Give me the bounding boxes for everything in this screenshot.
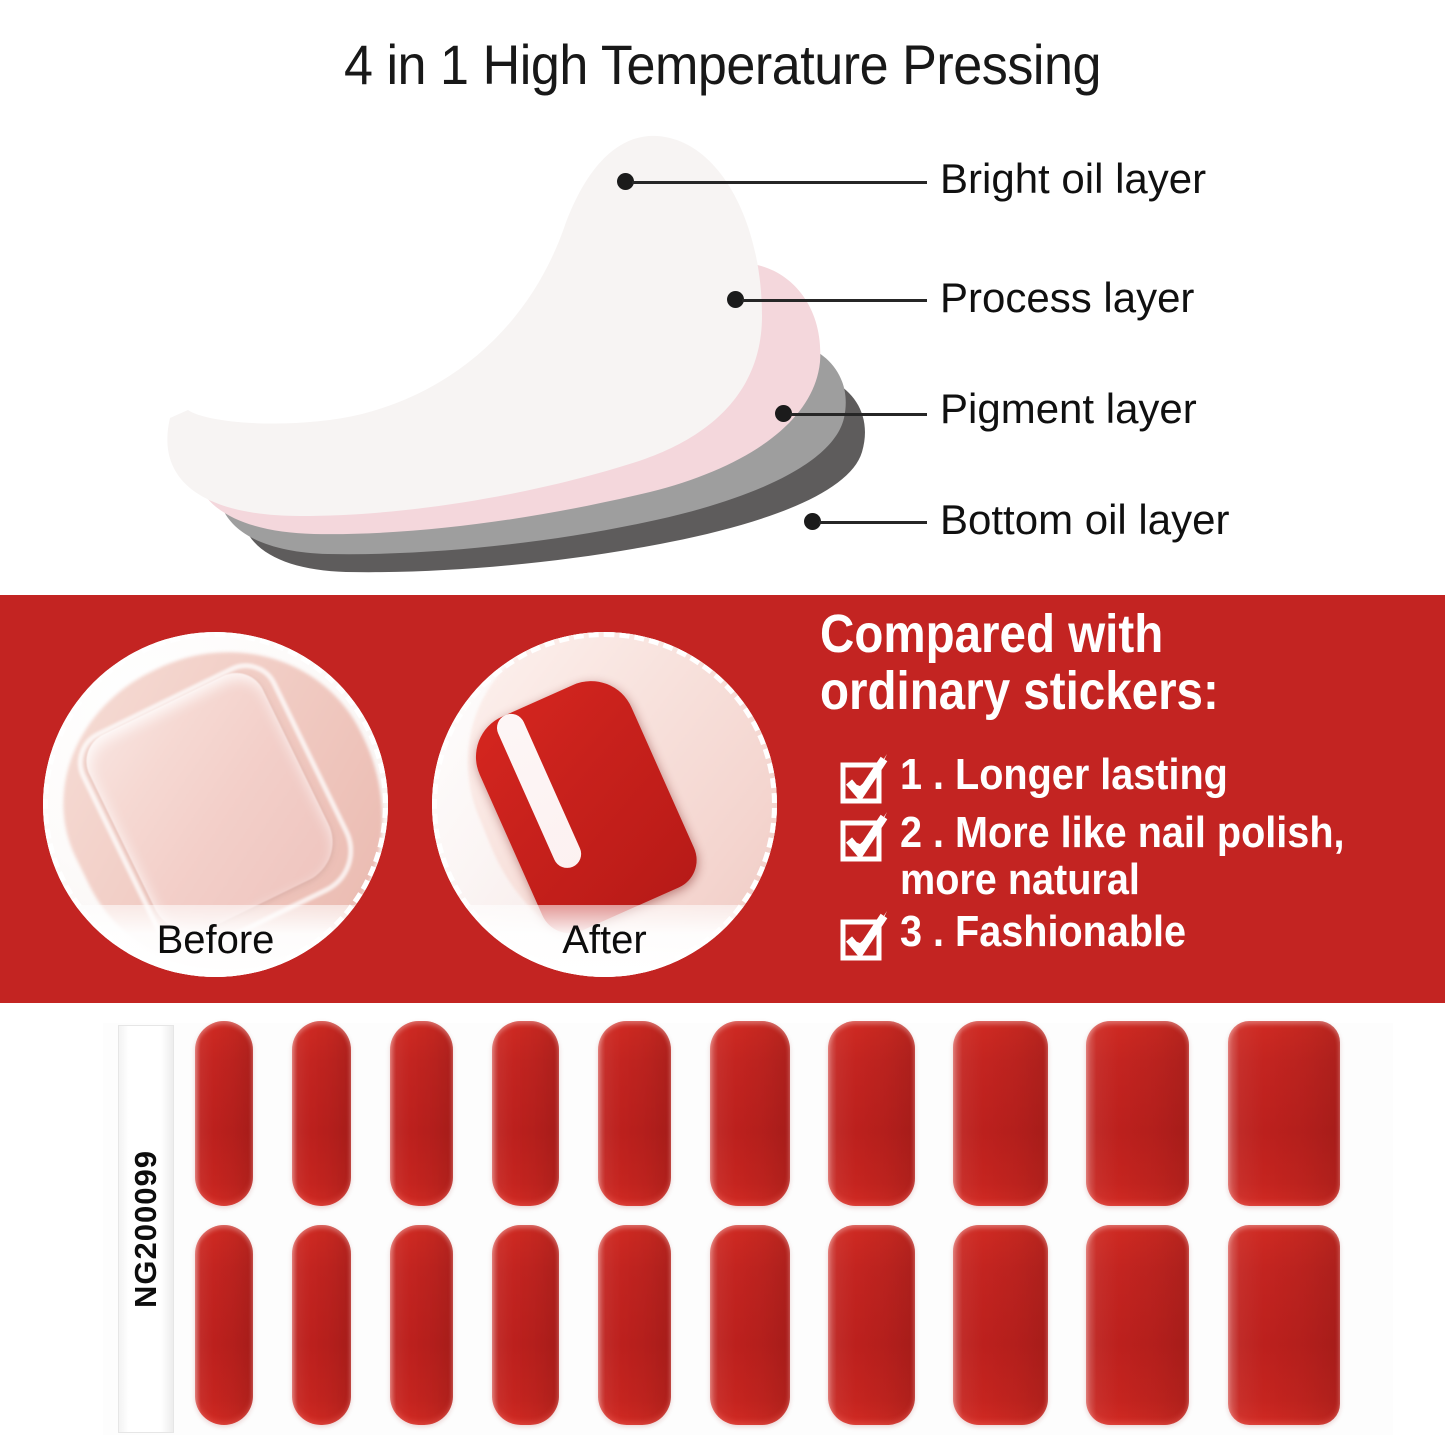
comparison-heading: Compared with ordinary stickers: [820, 606, 1366, 719]
nail-strip-sheet-section: NG200099 [0, 1003, 1445, 1445]
nail-strip[interactable] [1228, 1021, 1340, 1206]
nail-strip[interactable] [953, 1021, 1048, 1206]
benefit-item-2-text: 2 . More like nail polish, more natural [900, 810, 1345, 903]
nail-strip[interactable] [492, 1021, 560, 1206]
nail-strip[interactable] [953, 1225, 1048, 1425]
benefit-item-3-number: 3 . [900, 907, 944, 956]
checkbox-checked-icon [840, 814, 888, 862]
nail-strip[interactable] [710, 1225, 790, 1425]
callout-line-bright-oil [632, 181, 927, 184]
nail-strip[interactable] [195, 1021, 253, 1206]
benefit-item-1-label: Longer lasting [955, 750, 1228, 799]
nail-strip[interactable] [195, 1225, 253, 1425]
benefit-item-1-number: 1 . [900, 750, 944, 799]
nail-strip[interactable] [292, 1021, 352, 1206]
nail-strip[interactable] [710, 1021, 790, 1206]
nail-strip[interactable] [1086, 1021, 1189, 1206]
benefit-item-3-text: 3 . Fashionable [900, 909, 1186, 956]
product-code-text: NG200099 [128, 1150, 164, 1308]
nail-strip[interactable] [492, 1225, 560, 1425]
benefit-item-1-text: 1 . Longer lasting [900, 752, 1228, 799]
callout-label-pigment: Pigment layer [940, 385, 1197, 433]
product-code-strip: NG200099 [118, 1025, 174, 1433]
nail-strip[interactable] [1228, 1225, 1340, 1425]
nail-strip[interactable] [828, 1225, 915, 1425]
callout-line-pigment [790, 413, 927, 416]
checkbox-checked-icon [840, 913, 888, 961]
benefit-item-2: 2 . More like nail polish, more natural [840, 810, 1445, 903]
nail-strip[interactable] [828, 1021, 915, 1206]
before-photo-circle: Before [43, 632, 388, 977]
benefit-item-2-label: More like nail polish, more natural [900, 808, 1345, 904]
page-title: 4 in 1 High Temperature Pressing [51, 32, 1395, 97]
benefit-list: 1 . Longer lasting 2 . More like nail po… [840, 752, 1445, 967]
nail-strip[interactable] [1086, 1225, 1189, 1425]
benefit-item-2-number: 2 . [900, 808, 944, 857]
benefit-item-3: 3 . Fashionable [840, 909, 1445, 961]
nail-strip[interactable] [598, 1225, 671, 1425]
checkbox-checked-icon [840, 756, 888, 804]
layer-diagram-section: 4 in 1 High Temperature Pressing Bright … [0, 0, 1445, 595]
before-caption: Before [43, 918, 388, 963]
nail-strip[interactable] [292, 1225, 352, 1425]
benefit-item-1: 1 . Longer lasting [840, 752, 1445, 804]
after-photo-circle: After [432, 632, 777, 977]
callout-label-process: Process layer [940, 274, 1194, 322]
nail-strip[interactable] [390, 1225, 453, 1425]
nail-layer-stack-illustration [150, 100, 910, 580]
callout-label-bottom-oil: Bottom oil layer [940, 496, 1229, 544]
after-caption: After [432, 918, 777, 963]
nail-strip[interactable] [598, 1021, 671, 1206]
product-infographic: 4 in 1 High Temperature Pressing Bright … [0, 0, 1445, 1445]
nail-strip[interactable] [390, 1021, 453, 1206]
benefit-item-3-label: Fashionable [955, 907, 1186, 956]
callout-line-bottom-oil [819, 521, 927, 524]
callout-label-bright-oil: Bright oil layer [940, 155, 1206, 203]
callout-line-process [742, 299, 927, 302]
